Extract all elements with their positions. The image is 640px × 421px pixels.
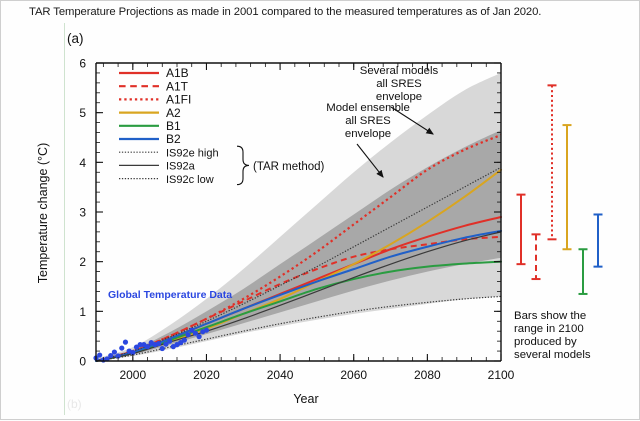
observed-point (119, 345, 124, 350)
y-tick-label: 5 (79, 106, 86, 120)
observed-point (185, 332, 190, 337)
observed-point (167, 339, 172, 344)
legend-label-b1[interactable]: B1 (166, 119, 181, 133)
x-tick-label: 2100 (488, 368, 515, 382)
legend-label-a1b[interactable]: A1B (166, 66, 189, 80)
observed-point (156, 341, 161, 346)
y-tick-label: 6 (79, 57, 86, 71)
legend-label-a1fi[interactable]: A1FI (166, 93, 191, 107)
observed-point (112, 349, 117, 354)
legend-label-is92c-low[interactable]: IS92c low (166, 174, 214, 186)
legend-group-note: (TAR method) (253, 161, 325, 173)
x-axis-title: Year (293, 392, 318, 406)
model-ensemble-line3: envelope (345, 128, 391, 140)
legend-label-a2[interactable]: A2 (166, 106, 181, 120)
range-bars-2100 (517, 85, 603, 294)
observed-point (196, 334, 201, 339)
observed-point (97, 352, 102, 357)
legend-label-is92e-high[interactable]: IS92e high (166, 147, 219, 159)
bars-caption-line1: Bars show the (514, 310, 586, 322)
y-tick-label: 2 (79, 255, 86, 269)
x-tick-label: 2080 (414, 368, 441, 382)
model-ensemble-line2: all SRES (345, 115, 391, 127)
bars-caption: Bars show the range in 2100 produced by … (514, 310, 591, 361)
several-models-line1: Several models (360, 65, 439, 77)
observed-data-label: Global Temperature Data (108, 289, 232, 301)
x-tick-label: 2060 (340, 368, 367, 382)
figure-root: TAR Temperature Projections as made in 2… (0, 0, 640, 420)
x-tick-label: 2040 (267, 368, 294, 382)
y-tick-label: 0 (79, 355, 86, 369)
legend-label-b2[interactable]: B2 (166, 132, 181, 146)
x-tick-label: 2020 (193, 368, 220, 382)
chart-legend: A1BA1TA1FIA2B1B2IS92e highIS92aIS92c low… (119, 66, 325, 186)
y-tick-label: 3 (79, 206, 86, 220)
envelope-bands (96, 73, 501, 361)
observed-point (182, 338, 187, 343)
y-tick-label: 1 (79, 305, 86, 319)
temperature-projection-chart: 0123456200020202040206020802100 A1BA1TA1… (1, 1, 640, 421)
y-tick-label: 4 (79, 156, 86, 170)
legend-label-a1t[interactable]: A1T (166, 79, 189, 93)
legend-group-brace (237, 146, 249, 184)
observed-point (204, 328, 209, 333)
bars-caption-line2: range in 2100 (514, 323, 584, 335)
y-axis-title: Temperature change (°C) (36, 143, 50, 283)
observed-point (145, 344, 150, 349)
bars-caption-line3: produced by (514, 336, 577, 348)
model-ensemble-line1: Model ensemble (326, 102, 410, 114)
observed-point (160, 346, 165, 351)
legend-label-is92a[interactable]: IS92a (166, 161, 196, 173)
several-models-line2: all SRES (376, 78, 422, 90)
bars-caption-line4: several models (514, 349, 591, 361)
x-tick-label: 2000 (119, 368, 146, 382)
observed-point (123, 340, 128, 345)
